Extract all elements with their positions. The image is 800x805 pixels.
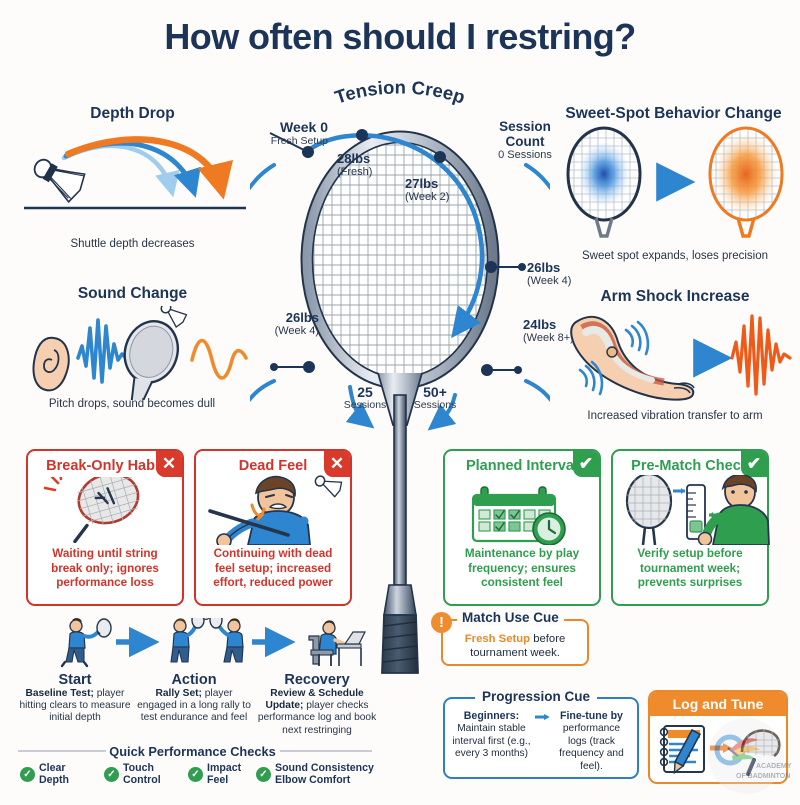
alert-icon: !	[431, 612, 452, 633]
caption-sound-change: Pitch drops, sound becomes dull	[18, 398, 246, 410]
caption-depth-drop: Shuttle depth decreases	[30, 238, 235, 250]
session-count-line2: Count	[506, 134, 545, 149]
log-and-tune-title: Log and Tune	[650, 692, 786, 716]
sessions-50-unit: Sessions	[404, 400, 466, 411]
workflow-illustration	[20, 618, 370, 672]
sessions-50: 50+ Sessions	[404, 385, 466, 411]
cross-icon: ✕	[324, 451, 350, 477]
session-count-line1: Session	[499, 119, 551, 134]
calendar-clock-icon	[445, 477, 603, 545]
panel-title-depth-drop: Depth Drop	[30, 105, 235, 123]
page-title: How often should I restring?	[0, 16, 800, 58]
quick-check-3-line1: Sound Consistency	[275, 762, 374, 774]
svg-text:Tension Creep: Tension Creep	[332, 78, 468, 108]
tension-check-player-icon	[613, 475, 771, 545]
quick-check-0-line2: Depth	[39, 774, 69, 786]
match-use-cue-highlight: Fresh Setup	[465, 633, 530, 645]
watermark-logo: ACADEMY OF BADMINTON	[700, 718, 792, 800]
workflow-step-start-title: Start	[17, 672, 133, 688]
tension-creep-label: Tension Creep	[332, 78, 468, 108]
broken-string-racket-icon	[28, 477, 186, 543]
watermark-line2: OF BADMINTON	[736, 773, 790, 780]
card-pre-match-check[interactable]: Pre-Match Check ✔	[611, 449, 769, 606]
progression-cue[interactable]: Progression Cue Beginners: Maintain stab…	[443, 697, 639, 779]
session-count-label: Session Count 0 Sessions	[487, 119, 563, 162]
workflow-step-action-title: Action	[136, 672, 252, 688]
check-icon: ✓	[188, 767, 203, 782]
sessions-25-value: 25	[357, 384, 373, 400]
progression-cue-title: Progression Cue	[475, 689, 597, 704]
check-icon: ✓	[20, 767, 35, 782]
progression-cue-right-text: performance logs (track frequency and fe…	[559, 723, 624, 771]
tension-node-3: 26lbs (Week 4)	[257, 311, 319, 337]
caption-arm-shock: Increased vibration transfer to arm	[556, 410, 794, 422]
quick-check-1-line1: Touch	[123, 762, 154, 774]
panel-title-sound-change: Sound Change	[30, 285, 235, 303]
tension-node-0: 28lbs (Fresh)	[337, 152, 372, 178]
progression-cue-right-head: Fine-tune by	[560, 710, 623, 722]
tension-node-1-value: 27lbs	[405, 177, 449, 191]
card-pre-match-check-text: Verify setup before tournament week; pre…	[613, 547, 767, 591]
check-icon: ✓	[104, 767, 119, 782]
tension-node-2-value: 26lbs	[527, 261, 571, 275]
sessions-25-unit: Sessions	[336, 400, 394, 411]
tension-creep-title: Tension Creep	[300, 78, 500, 126]
session-count-sub: 0 Sessions	[487, 149, 563, 161]
quick-check-3-line2: Elbow Comfort	[275, 774, 350, 786]
check-icon: ✔	[573, 451, 599, 477]
quick-check-sound-elbow[interactable]: ✓ Sound Consistency Elbow Comfort	[256, 763, 374, 787]
progression-arrow-icon	[535, 710, 549, 773]
card-planned-interval[interactable]: Planned Interval ✔	[443, 449, 601, 606]
tension-node-2: 26lbs (Week 4)	[527, 261, 571, 287]
watermark-line1: ACADEMY	[756, 763, 792, 770]
sweet-spot-illustration	[556, 126, 794, 244]
card-dead-feel[interactable]: Dead Feel ✕ Continuing with dead feel	[194, 449, 352, 606]
workflow-step-start-lead: Baseline Test;	[26, 688, 94, 699]
tension-node-3-value: 26lbs	[257, 311, 319, 325]
progression-cue-left-head: Beginners:	[464, 710, 519, 722]
tension-node-1-stage: (Week 2)	[405, 191, 449, 203]
panel-title-sweet-spot: Sweet-Spot Behavior Change	[556, 105, 791, 123]
arm-shock-illustration	[556, 308, 796, 406]
match-use-cue[interactable]: ! Match Use Cue Fresh Setup before tourn…	[441, 619, 589, 666]
match-use-cue-body: Fresh Setup before tournament week.	[443, 621, 587, 660]
quick-check-2-line1: Impact	[207, 762, 241, 774]
quick-check-2-line2: Feel	[207, 774, 228, 786]
quick-checks-title: Quick Performance Checks	[0, 744, 385, 759]
progression-cue-right: Fine-tune by performance logs (track fre…	[553, 710, 630, 773]
workflow-step-action-lead: Rally Set;	[155, 688, 201, 699]
week-zero-value: Week 0	[250, 119, 328, 135]
sessions-25: 25 Sessions	[336, 385, 394, 411]
card-break-only-habit-text: Waiting until string break only; ignores…	[28, 547, 182, 591]
quick-check-impact-feel[interactable]: ✓ Impact Feel	[188, 763, 241, 787]
cross-icon: ✕	[156, 451, 182, 477]
quick-check-touch-control[interactable]: ✓ Touch Control	[104, 763, 161, 787]
quick-check-1-line2: Control	[123, 774, 161, 786]
tension-node-0-stage: (Fresh)	[337, 166, 372, 178]
tension-node-2-stage: (Week 4)	[527, 275, 571, 287]
tension-node-3-stage: (Week 4)	[257, 325, 319, 337]
workflow-step-action: Action Rally Set; player engaged in a lo…	[136, 672, 252, 725]
match-use-cue-title: Match Use Cue	[457, 610, 564, 625]
quick-check-clear-depth[interactable]: ✓ Clear Depth	[20, 763, 69, 787]
week-zero-sub: Fresh Setup	[250, 135, 328, 147]
progression-cue-left: Beginners: Maintain stable interval firs…	[452, 710, 531, 773]
panel-title-arm-shock: Arm Shock Increase	[556, 288, 794, 306]
tension-node-0-value: 28lbs	[337, 152, 372, 166]
caption-sweet-spot: Sweet spot expands, loses precision	[556, 250, 794, 262]
sound-change-illustration	[20, 306, 250, 400]
card-planned-interval-text: Maintenance by play frequency; ensures c…	[445, 547, 599, 591]
workflow-step-recovery-title: Recovery	[254, 672, 380, 688]
check-icon: ✔	[741, 451, 767, 477]
sessions-50-value: 50+	[423, 384, 447, 400]
progression-cue-left-text: Maintain stable interval first (e.g., ev…	[452, 723, 530, 759]
frustrated-player-icon	[196, 475, 354, 545]
week-zero-label: Week 0 Fresh Setup	[250, 119, 328, 147]
tension-node-1: 27lbs (Week 2)	[405, 177, 449, 203]
quick-check-0-line1: Clear	[39, 762, 66, 774]
card-dead-feel-text: Continuing with dead feel setup; increas…	[196, 547, 350, 591]
workflow-step-start: Start Baseline Test; player hitting clea…	[17, 672, 133, 725]
depth-drop-illustration	[22, 128, 247, 238]
workflow-step-recovery: Recovery Review & Schedule Update; playe…	[254, 672, 380, 737]
card-break-only-habit[interactable]: Break-Only Habit ✕ Waiting until s	[26, 449, 184, 606]
check-icon: ✓	[256, 767, 271, 782]
